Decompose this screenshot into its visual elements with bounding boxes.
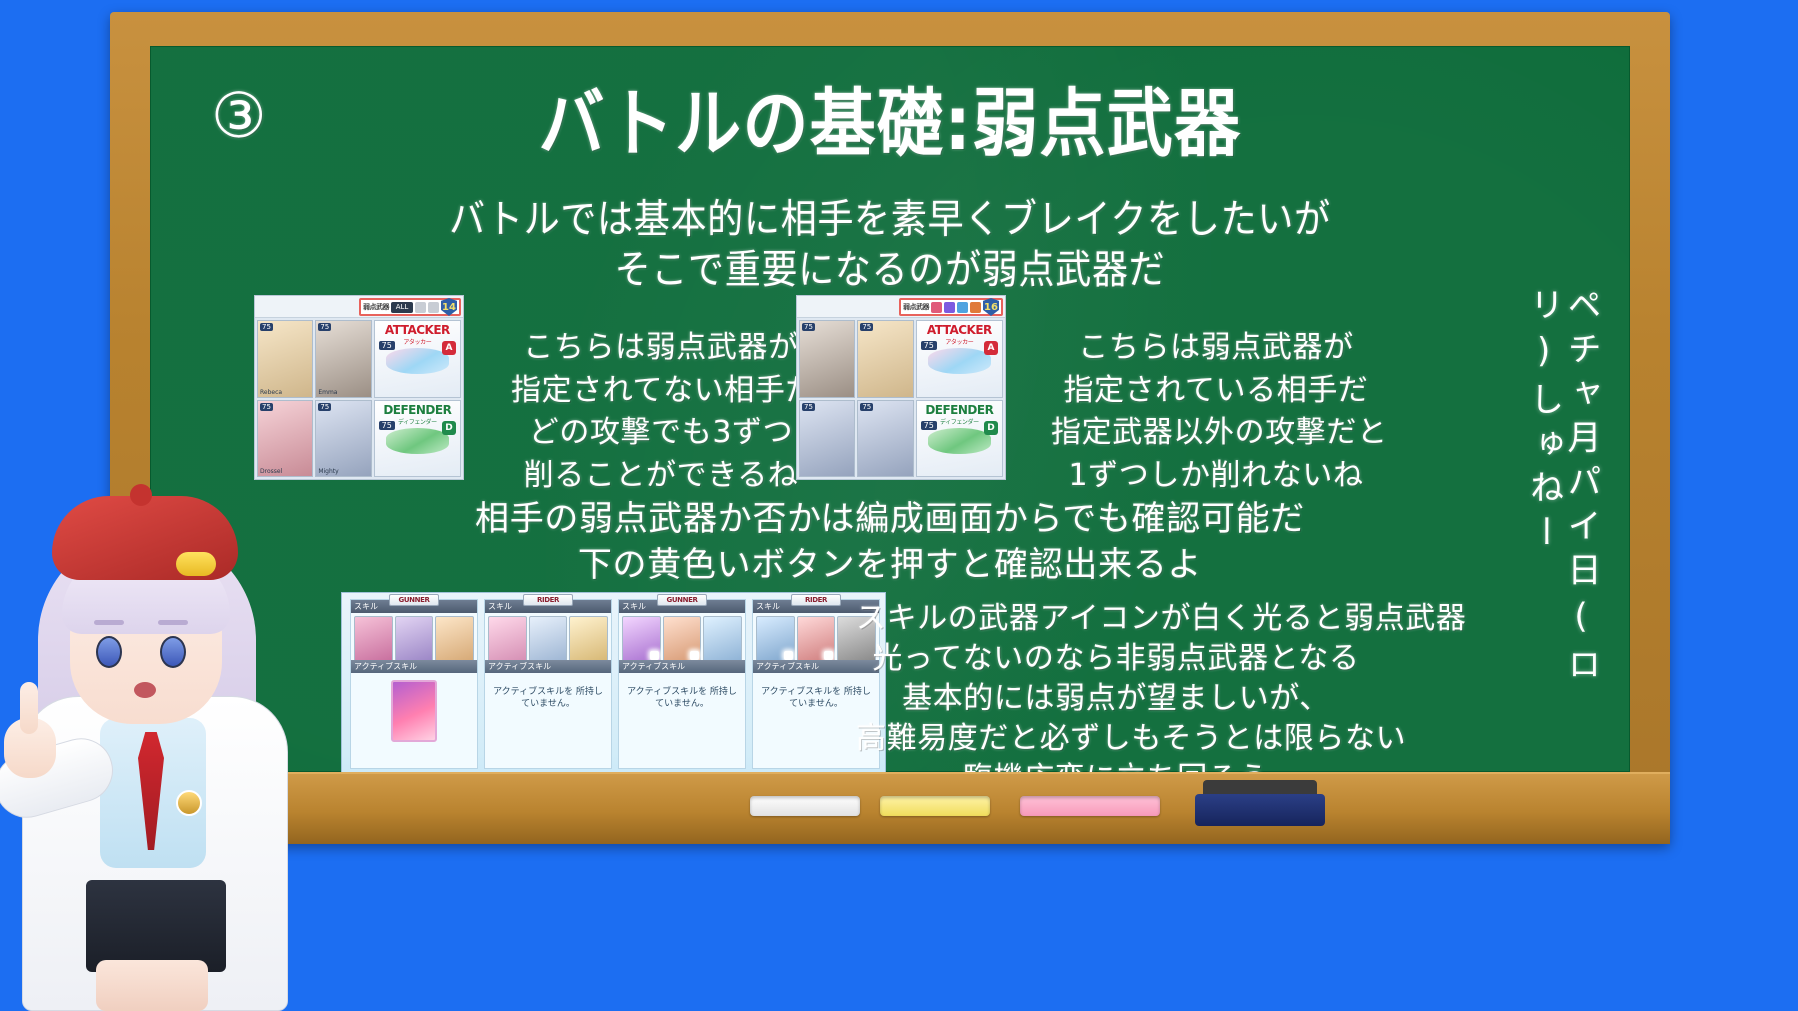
column-subheader: アクティブスキル xyxy=(351,660,477,673)
left-explanation: こちらは弱点武器が 指定されてない相手だ どの攻撃でも3ずつ 削ることができるね xyxy=(511,327,811,497)
skill-mini[interactable] xyxy=(622,616,661,662)
role-name: ATTACKER xyxy=(927,323,992,337)
slide-subtitle: バトルでは基本的に相手を素早くブレイクをしたいが そこで重要になるのが弱点武器だ xyxy=(151,195,1629,296)
card-unit-grid: 75 75 ATTACKER アタッカー 75 A 75 75 xyxy=(797,318,1005,479)
right-note-line-2: 指定されている相手だ xyxy=(1051,370,1381,413)
skill-mini[interactable] xyxy=(435,616,474,662)
no-active-skill-note: アクティブスキルを 所持していません。 xyxy=(623,686,741,710)
formation-column: RIDER スキル アクティブスキル アクティブスキルを 所持していません。 xyxy=(484,599,612,769)
skill-mini[interactable] xyxy=(663,616,702,662)
role-card-attacker: ATTACKER アタッカー 75 A xyxy=(374,320,461,398)
role-level: 75 xyxy=(379,421,395,430)
unit-thumb: 75 xyxy=(857,400,913,478)
column-subheader: アクティブスキル xyxy=(619,660,745,673)
weapon-icon-1 xyxy=(931,302,942,313)
character-eye-right xyxy=(160,636,186,668)
character-mouth xyxy=(134,682,156,698)
role-tag: RIDER xyxy=(791,594,841,606)
unit-name: Emma xyxy=(318,389,337,396)
role-badge: A xyxy=(442,341,456,355)
unit-thumb: 75 Emma xyxy=(315,320,371,398)
skill-mini-grid xyxy=(619,613,745,665)
unit-level: 75 xyxy=(802,403,815,411)
role-name: DEFENDER xyxy=(925,403,993,417)
role-name-kana: ディフェンダー xyxy=(940,417,979,426)
column-subheader: アクティブスキル xyxy=(485,660,611,673)
unit-level: 75 xyxy=(260,323,273,331)
break-value-shield: 14 xyxy=(441,298,457,316)
role-card-attacker: ATTACKER アタッカー 75 A xyxy=(916,320,1003,398)
card-shot-with-weakness: 弱点武器 16 75 75 ATTACKER アタッカー xyxy=(796,295,1006,480)
skill-mini[interactable] xyxy=(395,616,434,662)
skill-mini[interactable] xyxy=(354,616,393,662)
weapon-icon-glow xyxy=(824,651,833,660)
blackboard-frame: ③ バトルの基礎:弱点武器 バトルでは基本的に相手を素早くブレイクをしたいが そ… xyxy=(110,12,1670,844)
weakness-label: 弱点武器 xyxy=(363,302,389,312)
unit-name: Rebeca xyxy=(260,389,282,396)
role-badge: D xyxy=(984,421,998,435)
weapon-icon-glow xyxy=(650,651,659,660)
card-unit-grid: 75 Rebeca 75 Emma ATTACKER アタッカー 75 A 75… xyxy=(255,318,463,479)
weakness-label: 弱点武器 xyxy=(903,302,929,312)
weapon-icon-3 xyxy=(957,302,968,313)
weapon-icon-2 xyxy=(944,302,955,313)
character-badge xyxy=(176,790,202,816)
break-value-shield: 16 xyxy=(983,298,999,316)
bottom-note-line-3: 基本的には弱点が望ましいが、 xyxy=(856,679,1376,719)
unit-level: 75 xyxy=(318,403,331,411)
right-note-line-4: 1ずつしか削れないね xyxy=(1051,455,1381,498)
weapon-icon-4 xyxy=(970,302,981,313)
unit-thumb: 75 xyxy=(799,400,855,478)
role-name-kana: ディフェンダー xyxy=(398,417,437,426)
skill-mini[interactable] xyxy=(529,616,568,662)
character-hair-bow xyxy=(176,552,216,576)
formation-column: GUNNER スキル アクティブスキル アクティブスキルを 所持していません。 xyxy=(618,599,746,769)
role-card-defender: DEFENDER ディフェンダー 75 D xyxy=(374,400,461,478)
role-tag: GUNNER xyxy=(657,594,707,606)
unit-thumb: 75 xyxy=(799,320,855,398)
role-name-kana: アタッカー xyxy=(945,337,973,346)
skill-mini[interactable] xyxy=(569,616,608,662)
unit-thumb: 75 Rebeca xyxy=(257,320,313,398)
unit-level: 75 xyxy=(860,323,873,331)
character-illustration xyxy=(0,460,310,1011)
unit-thumb: 75 Mighty xyxy=(315,400,371,478)
unit-thumb: 75 xyxy=(857,320,913,398)
role-tag: RIDER xyxy=(523,594,573,606)
subtitle-line-1: バトルでは基本的に相手を素早くブレイクをしたいが xyxy=(151,195,1629,246)
weakness-indicator-specified: 弱点武器 16 xyxy=(899,298,1003,316)
skill-mini[interactable] xyxy=(756,616,795,662)
character-eyebrow-right xyxy=(158,620,188,625)
left-note-line-2: 指定されてない相手だ xyxy=(511,370,811,413)
subtitle-line-2: そこで重要になるのが弱点武器だ xyxy=(151,246,1629,297)
vertical-side-note: ペチャ月パイ日(ロリ)しゅねー xyxy=(1524,287,1599,771)
chalk-tray xyxy=(110,772,1670,844)
unit-level: 75 xyxy=(318,323,331,331)
left-note-line-3: どの攻撃でも3ずつ xyxy=(511,412,811,455)
skill-mini-grid xyxy=(351,613,477,665)
role-level: 75 xyxy=(379,341,395,350)
blackboard-eraser xyxy=(1195,780,1325,826)
bottom-explanation: スキルの武器アイコンが白く光ると弱点武器 光ってないのなら非弱点武器となる 基本… xyxy=(856,599,1376,798)
character-eyebrow-left xyxy=(94,620,124,625)
unit-level: 75 xyxy=(860,403,873,411)
vehicle-icon xyxy=(928,348,991,374)
card-shot-header: 弱点武器 ALL 14 xyxy=(255,296,463,318)
role-name: ATTACKER xyxy=(385,323,450,337)
role-badge: D xyxy=(442,421,456,435)
no-active-skill-note: アクティブスキルを 所持していません。 xyxy=(489,686,607,710)
vehicle-icon xyxy=(928,428,991,454)
vehicle-icon xyxy=(386,428,449,454)
mid-note-line-1: 相手の弱点武器か否かは編成画面からでも確認可能だ xyxy=(151,497,1629,543)
character-skirt xyxy=(86,880,226,972)
role-badge: A xyxy=(984,341,998,355)
chalk-pink xyxy=(1020,796,1160,816)
left-note-line-4: 削ることができるね xyxy=(511,455,811,498)
card-shot-no-weakness: 弱点武器 ALL 14 75 Rebeca 75 Emma ATTACKER ア… xyxy=(254,295,464,480)
weakness-all-badge: ALL xyxy=(391,302,413,313)
vehicle-icon xyxy=(386,348,449,374)
character-pointing-finger xyxy=(20,682,38,734)
role-name-kana: アタッカー xyxy=(403,337,431,346)
active-skill-card[interactable] xyxy=(391,680,437,742)
mid-note-line-2: 下の黄色いボタンを押すと確認出来るよ xyxy=(151,543,1629,589)
page-title: バトルの基礎:弱点武器 xyxy=(151,85,1629,163)
right-explanation: こちらは弱点武器が 指定されている相手だ 指定武器以外の攻撃だと 1ずつしか削れ… xyxy=(1051,327,1381,497)
character-legs xyxy=(96,960,208,1011)
weakness-indicator-all: 弱点武器 ALL 14 xyxy=(359,298,461,316)
right-note-line-1: こちらは弱点武器が xyxy=(1051,327,1381,370)
weapon-icon-glow xyxy=(784,651,793,660)
chalk-yellow xyxy=(880,796,990,816)
skill-mini[interactable] xyxy=(797,616,836,662)
unit-level: 75 xyxy=(802,323,815,331)
unit-level: 75 xyxy=(260,403,273,411)
skill-mini-grid xyxy=(485,613,611,665)
role-level: 75 xyxy=(921,341,937,350)
bottom-note-line-1: スキルの武器アイコンが白く光ると弱点武器 xyxy=(856,599,1376,639)
formation-column: GUNNER スキル アクティブスキル xyxy=(350,599,478,769)
left-note-line-1: こちらは弱点武器が xyxy=(511,327,811,370)
role-tag: GUNNER xyxy=(389,594,439,606)
character-eye-left xyxy=(96,636,122,668)
role-name: DEFENDER xyxy=(383,403,451,417)
middle-explanation: 相手の弱点武器か否かは編成画面からでも確認可能だ 下の黄色いボタンを押すと確認出… xyxy=(151,497,1629,589)
blackboard-surface: ③ バトルの基礎:弱点武器 バトルでは基本的に相手を素早くブレイクをしたいが そ… xyxy=(150,46,1630,772)
unit-name: Mighty xyxy=(318,468,338,475)
role-card-defender: DEFENDER ディフェンダー 75 D xyxy=(916,400,1003,478)
skill-mini[interactable] xyxy=(703,616,742,662)
character-beret-knob xyxy=(130,484,152,506)
bottom-note-line-2: 光ってないのなら非弱点武器となる xyxy=(856,639,1376,679)
bottom-note-line-4: 高難易度だと必ずしもそうとは限らない xyxy=(856,719,1376,759)
chalk-white xyxy=(750,796,860,816)
role-level: 75 xyxy=(921,421,937,430)
card-shot-header: 弱点武器 16 xyxy=(797,296,1005,318)
weapon-icon-glow xyxy=(690,651,699,660)
right-note-line-3: 指定武器以外の攻撃だと xyxy=(1051,412,1381,455)
skill-mini[interactable] xyxy=(488,616,527,662)
